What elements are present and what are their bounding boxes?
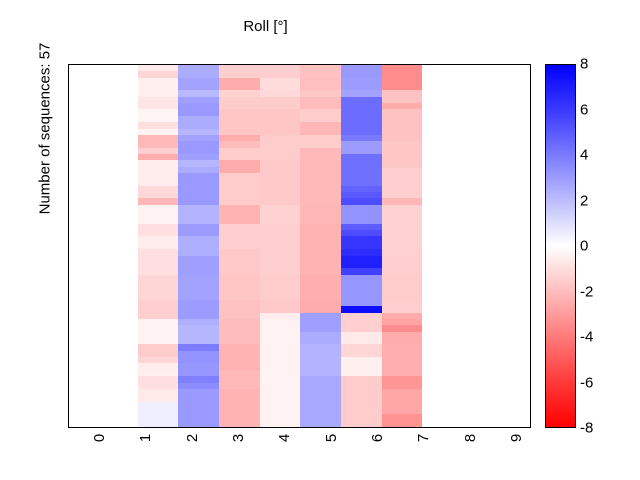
x-tick-label: 4 — [276, 431, 293, 445]
x-tick-label: 1 — [137, 431, 154, 445]
colorbar-tick-label: -8 — [580, 420, 593, 437]
x-tick-label: 0 — [91, 431, 108, 445]
x-tick-label: 5 — [323, 431, 340, 445]
colorbar-tick-label: 0 — [580, 238, 588, 255]
heatmap-cell — [382, 421, 423, 427]
colorbar-tick-label: -6 — [580, 374, 593, 391]
chart-root: Roll [°] Number of sequences: 57 0123456… — [0, 0, 640, 480]
heatmap-cell — [300, 421, 341, 427]
colorbar-tick-label: -2 — [580, 283, 593, 300]
heatmap-plot-area — [68, 64, 531, 428]
heatmap-cell — [260, 421, 301, 427]
heatmap-cell — [219, 421, 260, 427]
colorbar-gradient — [545, 64, 576, 428]
colorbar-tick-label: 4 — [580, 147, 588, 164]
colorbar-tick-label: 2 — [580, 192, 588, 209]
heatmap-cell — [341, 421, 382, 427]
heatmap-cell — [178, 421, 219, 427]
heatmap-cell — [422, 421, 463, 427]
y-axis-label: Number of sequences: 57 — [37, 0, 54, 294]
x-tick-label: 8 — [462, 431, 479, 445]
x-tick-label: 6 — [369, 431, 386, 445]
x-tick-label: 7 — [415, 431, 432, 445]
x-tick-label: 9 — [508, 431, 525, 445]
colorbar-tick-label: -4 — [580, 329, 593, 346]
colorbar-tick-label: 8 — [580, 56, 588, 73]
heatmap-grid — [138, 65, 463, 427]
colorbar-ticks: 86420-2-4-6-8 — [580, 64, 630, 428]
heatmap-canvas — [69, 65, 530, 427]
x-tick-label: 3 — [230, 431, 247, 445]
chart-title: Roll [°] — [0, 18, 531, 35]
colorbar-tick-label: 6 — [580, 101, 588, 118]
x-axis-ticks: 0123456789 — [68, 428, 531, 480]
heatmap-cell — [138, 421, 179, 427]
x-tick-label: 2 — [184, 431, 201, 445]
